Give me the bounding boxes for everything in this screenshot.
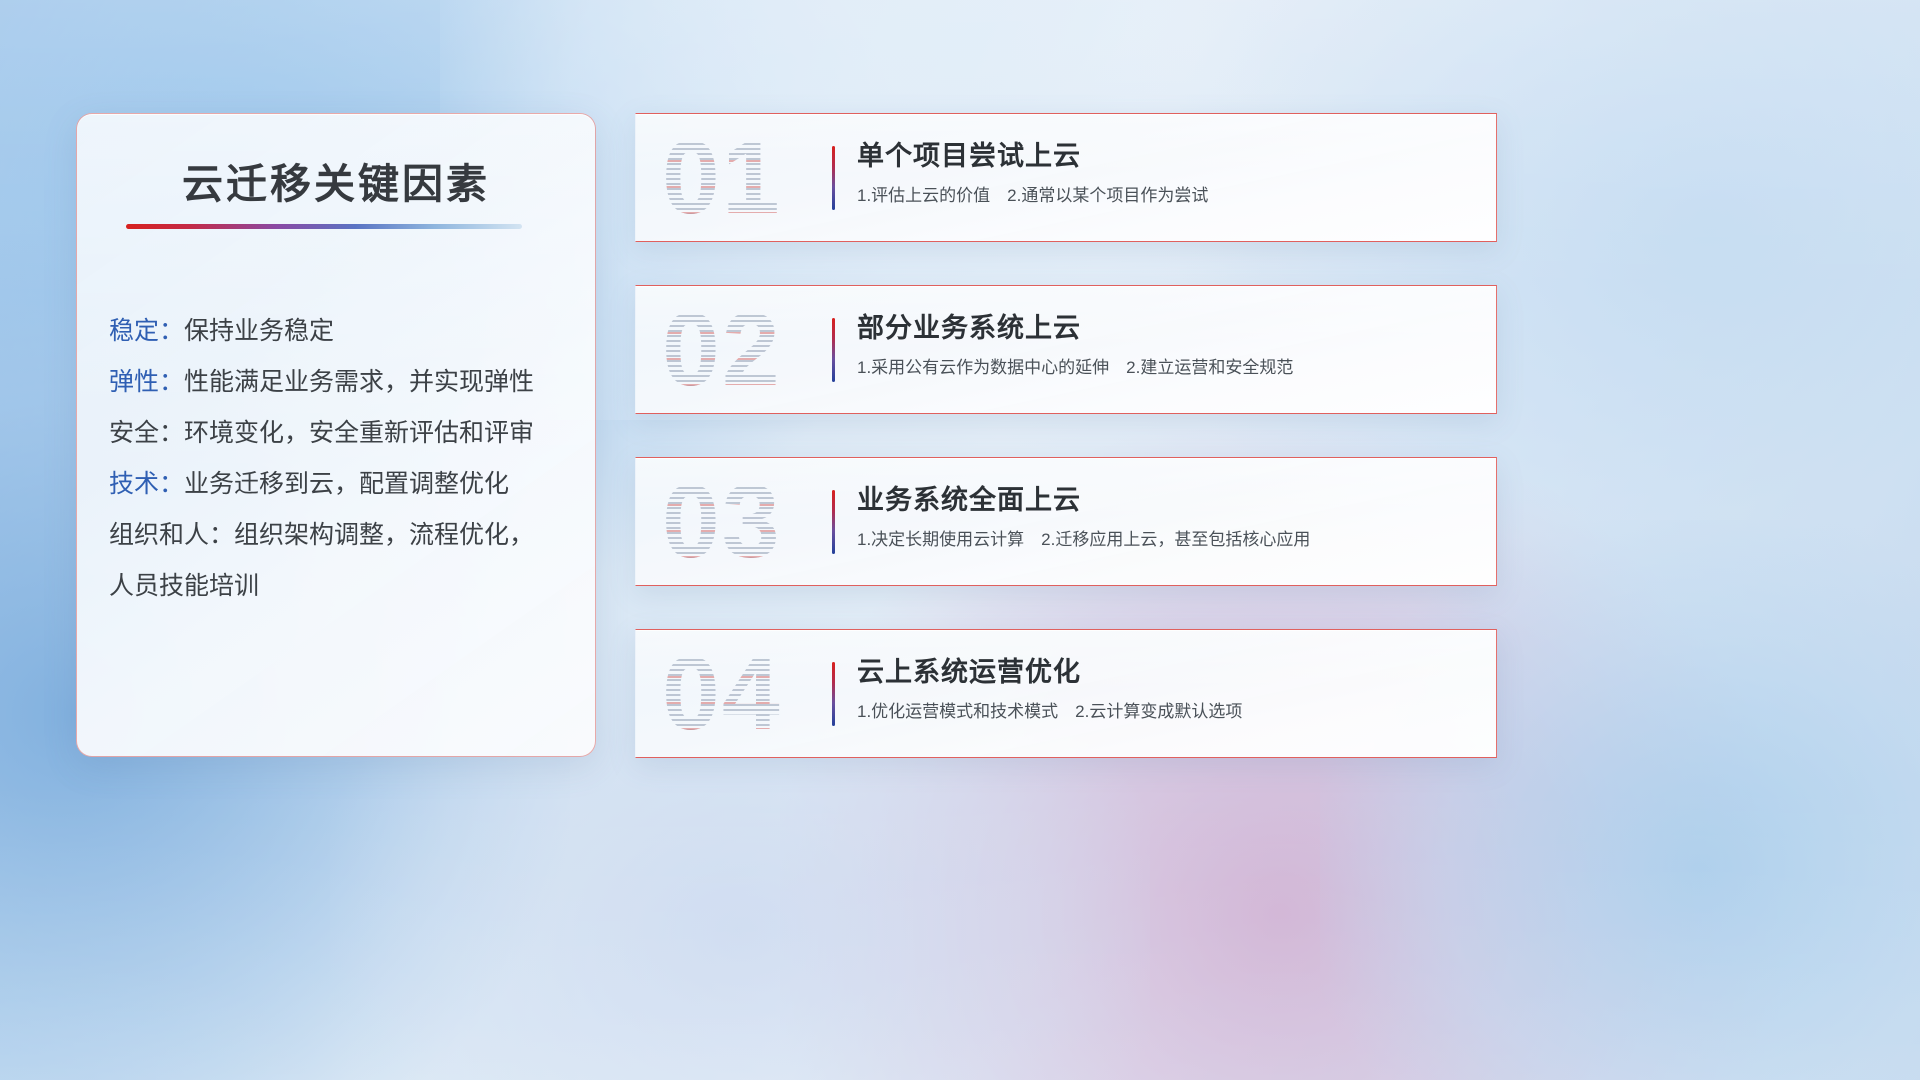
stage-card-01[interactable]: 01 01 单个项目尝试上云 1.评估上云的价值 2.通常以某个项目作为尝试 [635, 113, 1497, 242]
stage-body: 云上系统运营优化 1.优化运营模式和技术模式 2.云计算变成默认选项 [832, 652, 1470, 727]
stage-number-watermark: 04 [662, 629, 832, 758]
list-item: 组织和人：组织架构调整，流程优化， [109, 510, 573, 561]
stage-description: 1.优化运营模式和技术模式 2.云计算变成默认选项 [857, 697, 1470, 727]
stage-body: 单个项目尝试上云 1.评估上云的价值 2.通常以某个项目作为尝试 [832, 136, 1470, 211]
stage-body: 业务系统全面上云 1.决定长期使用云计算 2.迁移应用上云，甚至包括核心应用 [832, 480, 1470, 555]
stage-number-watermark: 01 [662, 113, 832, 242]
key-factors-panel: 云迁移关键因素 稳定：保持业务稳定 弹性：性能满足业务需求，并实现弹性 安全：环… [76, 113, 596, 757]
stage-card-02[interactable]: 02 02 部分业务系统上云 1.采用公有云作为数据中心的延伸 2.建立运营和安… [635, 285, 1497, 414]
list-item-value: 环境变化，安全重新评估和评审 [184, 419, 534, 447]
stage-title: 业务系统全面上云 [857, 480, 1470, 520]
stage-number-watermark-tint: 01 [662, 113, 832, 242]
list-item-key: 弹性： [109, 368, 184, 396]
list-item-key: 技术： [109, 470, 184, 498]
list-item: 人员技能培训 [109, 561, 573, 612]
stage-description: 1.采用公有云作为数据中心的延伸 2.建立运营和安全规范 [857, 353, 1470, 383]
stage-number-watermark-tint: 04 [662, 629, 832, 758]
stage-title: 单个项目尝试上云 [857, 136, 1470, 176]
list-item-value: 性能满足业务需求，并实现弹性 [184, 368, 534, 396]
list-item-key: 安全： [109, 419, 184, 447]
title-accent-rule [126, 224, 522, 229]
list-item: 稳定：保持业务稳定 [109, 306, 573, 357]
list-item: 安全：环境变化，安全重新评估和评审 [109, 408, 573, 459]
stage-number-watermark-tint: 03 [662, 457, 832, 586]
list-item: 弹性：性能满足业务需求，并实现弹性 [109, 357, 573, 408]
stage-number-watermark-tint: 02 [662, 285, 832, 414]
list-item-value: 人员技能培训 [109, 572, 259, 600]
list-item-key: 组织和人： [109, 521, 234, 549]
stage-card-04[interactable]: 04 04 云上系统运营优化 1.优化运营模式和技术模式 2.云计算变成默认选项 [635, 629, 1497, 758]
stage-card-03[interactable]: 03 03 业务系统全面上云 1.决定长期使用云计算 2.迁移应用上云，甚至包括… [635, 457, 1497, 586]
stage-number-watermark: 03 [662, 457, 832, 586]
list-item-value: 业务迁移到云，配置调整优化 [184, 470, 509, 498]
stage-title: 云上系统运营优化 [857, 652, 1470, 692]
stage-description: 1.决定长期使用云计算 2.迁移应用上云，甚至包括核心应用 [857, 525, 1470, 555]
stage-title: 部分业务系统上云 [857, 308, 1470, 348]
list-item-value: 保持业务稳定 [184, 317, 334, 345]
key-factors-list: 稳定：保持业务稳定 弹性：性能满足业务需求，并实现弹性 安全：环境变化，安全重新… [109, 306, 573, 612]
page-title: 云迁移关键因素 [77, 150, 595, 210]
stage-number-watermark: 02 [662, 285, 832, 414]
stage-body: 部分业务系统上云 1.采用公有云作为数据中心的延伸 2.建立运营和安全规范 [832, 308, 1470, 383]
list-item: 技术：业务迁移到云，配置调整优化 [109, 459, 573, 510]
list-item-key: 稳定： [109, 317, 184, 345]
stage-description: 1.评估上云的价值 2.通常以某个项目作为尝试 [857, 181, 1470, 211]
list-item-value: 组织架构调整，流程优化， [234, 521, 534, 549]
